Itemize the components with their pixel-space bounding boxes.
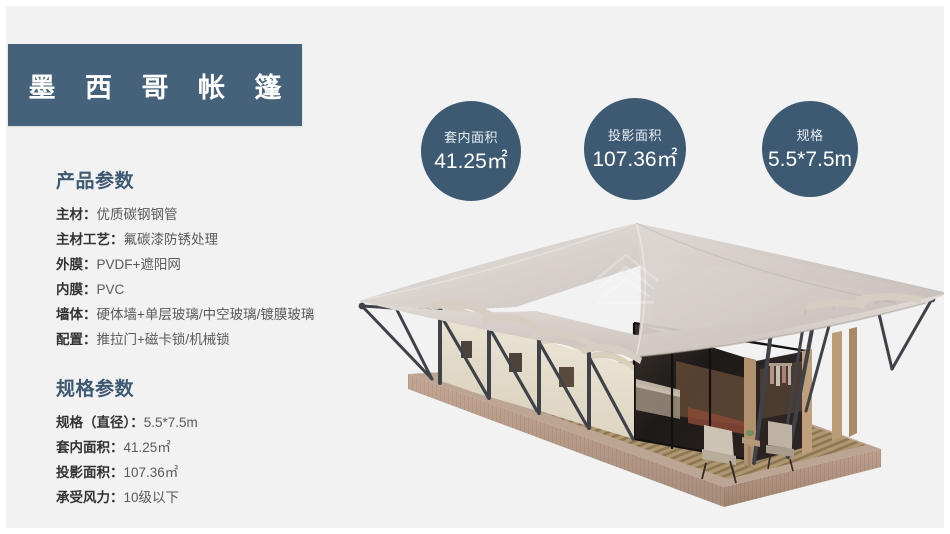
spec-value: 10级以下 [124,490,180,505]
badge-label: 规格 [796,129,823,142]
spec-value: 推拉门+磁卡锁/机械锁 [97,332,230,347]
spec-label: 主材工艺： [56,232,124,247]
badge-label: 投影面积 [608,129,662,142]
spec-label: 内膜： [56,282,97,297]
spec-label: 外膜： [56,257,97,272]
tent-render-image: 喜利帐篷 [336,211,950,534]
spec-value: 氟碳漆防锈处理 [124,232,219,247]
spec-value: PVDF+遮阳网 [97,257,181,272]
watermark-label: 喜利帐篷 [596,307,656,322]
slide-root: 墨 西 哥 帐 篷 产品参数 主材：优质碳钢钢管 主材工艺：氟碳漆防锈处理 外膜… [0,0,950,534]
title-banner: 墨 西 哥 帐 篷 [8,44,302,126]
stat-badge-interior-area: 套内面积 41.25㎡ [421,101,521,201]
spec-label: 墙体： [56,307,97,322]
spec-value: 41.25㎡ [124,440,171,455]
spec-label: 规格（直径）： [56,415,144,430]
spec-label: 投影面积： [56,465,124,480]
spec-value: 硬体墙+单层玻璃/中空玻璃/镀膜玻璃 [97,307,315,322]
badge-label: 套内面积 [444,131,498,144]
spec-value: 107.36㎡ [124,465,179,480]
badge-value: 5.5*7.5m [768,149,852,170]
spec-label: 主材： [56,207,97,222]
spec-label: 承受风力： [56,490,124,505]
product-spec-heading: 产品参数 [56,166,386,193]
badge-value: 41.25㎡ [434,151,508,172]
page-title: 墨 西 哥 帐 篷 [17,66,292,105]
badge-value: 107.36㎡ [592,149,677,170]
spec-label: 套内面积： [56,440,124,455]
spec-value: PVC [97,282,125,297]
spec-value: 5.5*7.5m [144,415,198,430]
stat-badge-projected-area: 投影面积 107.36㎡ [584,98,686,200]
stat-badge-size: 规格 5.5*7.5m [762,101,858,197]
spec-label: 配置： [56,332,97,347]
spec-value: 优质碳钢钢管 [97,207,178,222]
